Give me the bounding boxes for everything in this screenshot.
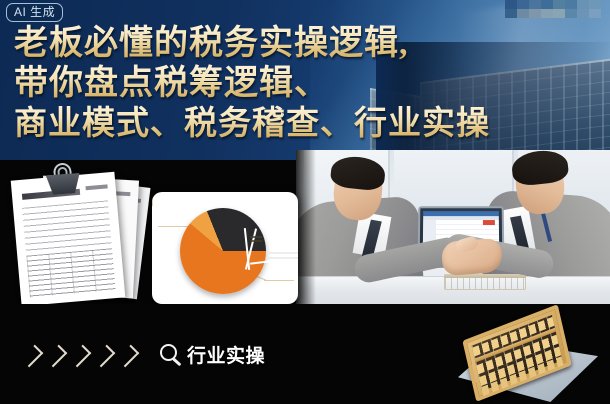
ai-generated-badge: AI 生成 bbox=[6, 3, 63, 22]
mosaic-censor-block bbox=[505, 0, 601, 18]
pie-chart-card bbox=[152, 192, 298, 304]
title-line-3: 商业模式、税务稽查、行业实操 bbox=[14, 104, 610, 144]
mosaic-tile bbox=[505, 0, 517, 9]
mosaic-tile bbox=[517, 0, 529, 9]
document-stack bbox=[6, 166, 150, 308]
poster-canvas: AI 生成 老板必懂的税务实操逻辑, 带你盘点税筹逻辑、 商业模式、税务稽查、行… bbox=[0, 0, 610, 404]
binder-clip-icon bbox=[45, 163, 81, 195]
chevron-right-icon bbox=[69, 345, 92, 368]
chevron-arrow-group bbox=[26, 346, 134, 366]
pie-leader-line-top bbox=[152, 192, 153, 206]
pie-slice-label-small bbox=[250, 236, 262, 243]
search-tag[interactable]: 行业实操 bbox=[160, 341, 265, 368]
document-data-table bbox=[26, 248, 115, 297]
search-icon-handle bbox=[172, 357, 181, 366]
search-tag-label: 行业实操 bbox=[187, 341, 265, 368]
pie-slice-label-dark bbox=[266, 252, 298, 262]
mosaic-tile bbox=[565, 9, 577, 18]
handshake-photo bbox=[296, 150, 610, 320]
mosaic-tile bbox=[553, 0, 565, 9]
chevron-right-icon bbox=[45, 345, 68, 368]
mosaic-tile bbox=[541, 0, 553, 9]
mosaic-tile bbox=[577, 0, 589, 9]
mosaic-tile bbox=[529, 0, 541, 9]
title-line-1: 老板必懂的税务实操逻辑, bbox=[14, 24, 610, 64]
mosaic-tile bbox=[565, 0, 577, 9]
mosaic-tile bbox=[529, 9, 541, 18]
pie-leader-line-right bbox=[264, 280, 294, 281]
chevron-right-icon bbox=[93, 345, 116, 368]
mosaic-tile bbox=[541, 9, 553, 18]
mosaic-tile bbox=[577, 9, 589, 18]
photo-left-fade bbox=[296, 150, 316, 320]
mosaic-tile bbox=[589, 0, 601, 9]
title-line-2: 带你盘点税筹逻辑、 bbox=[14, 64, 610, 104]
page-title: 老板必懂的税务实操逻辑, 带你盘点税筹逻辑、 商业模式、税务稽查、行业实操 bbox=[0, 24, 610, 144]
laptop-ui-accent bbox=[483, 220, 495, 225]
binder-clip-body bbox=[46, 173, 81, 195]
document-body-text bbox=[22, 200, 112, 251]
pie-chart bbox=[180, 208, 266, 294]
mosaic-tile bbox=[517, 9, 529, 18]
mosaic-tile bbox=[553, 9, 565, 18]
document-header-mark bbox=[85, 184, 107, 190]
mosaic-tile bbox=[589, 9, 601, 18]
mosaic-tile bbox=[505, 9, 517, 18]
search-icon bbox=[160, 343, 182, 367]
abacus-scene bbox=[452, 308, 610, 404]
